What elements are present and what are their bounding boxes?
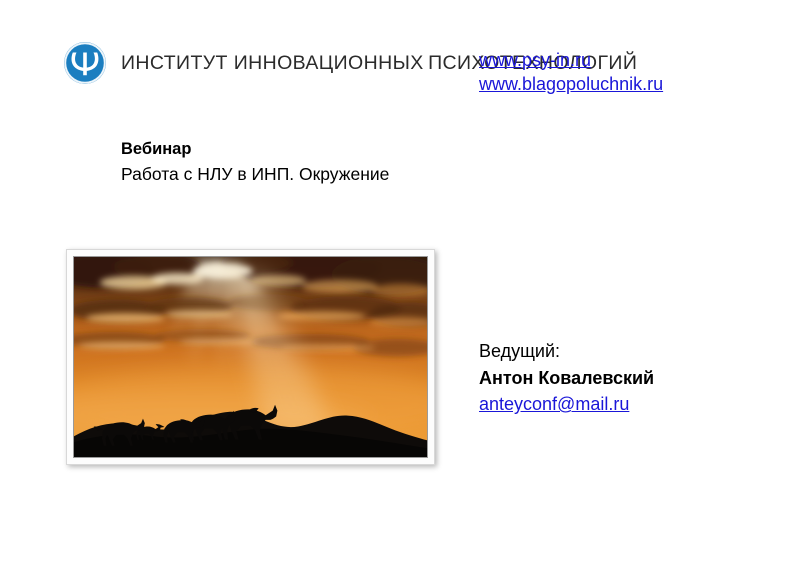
organization-line-1: ИНСТИТУТ ИННОВАЦИОННЫХ [121, 52, 424, 74]
slide-canvas: ИНСТИТУТ ИННОВАЦИОННЫХ ПСИХОТЕХНОЛОГИЙ w… [0, 0, 787, 587]
presenter-block: Ведущий: Антон Ковалевский anteyconf@mai… [479, 338, 654, 418]
presenter-email-link[interactable]: anteyconf@mail.ru [479, 391, 629, 418]
webinar-kicker: Вебинар [121, 138, 389, 162]
site-links: www.psy-in.ru www.blagopoluchnik.ru [479, 48, 663, 97]
presenter-name: Антон Ковалевский [479, 365, 654, 392]
site-link-blagopoluchnik[interactable]: www.blagopoluchnik.ru [479, 72, 663, 96]
presenter-label: Ведущий: [479, 338, 654, 365]
photo-frame [66, 249, 435, 465]
psi-circle-logo-icon [63, 41, 107, 85]
presenter-email-row: anteyconf@mail.ru [479, 391, 654, 418]
webinar-title: Работа с НЛУ в ИНП. Окружение [121, 162, 389, 187]
site-link-psy-in[interactable]: www.psy-in.ru [479, 48, 663, 72]
sunset-horses-photo [73, 256, 428, 458]
webinar-title-block: Вебинар Работа с НЛУ в ИНП. Окружение [121, 138, 389, 187]
